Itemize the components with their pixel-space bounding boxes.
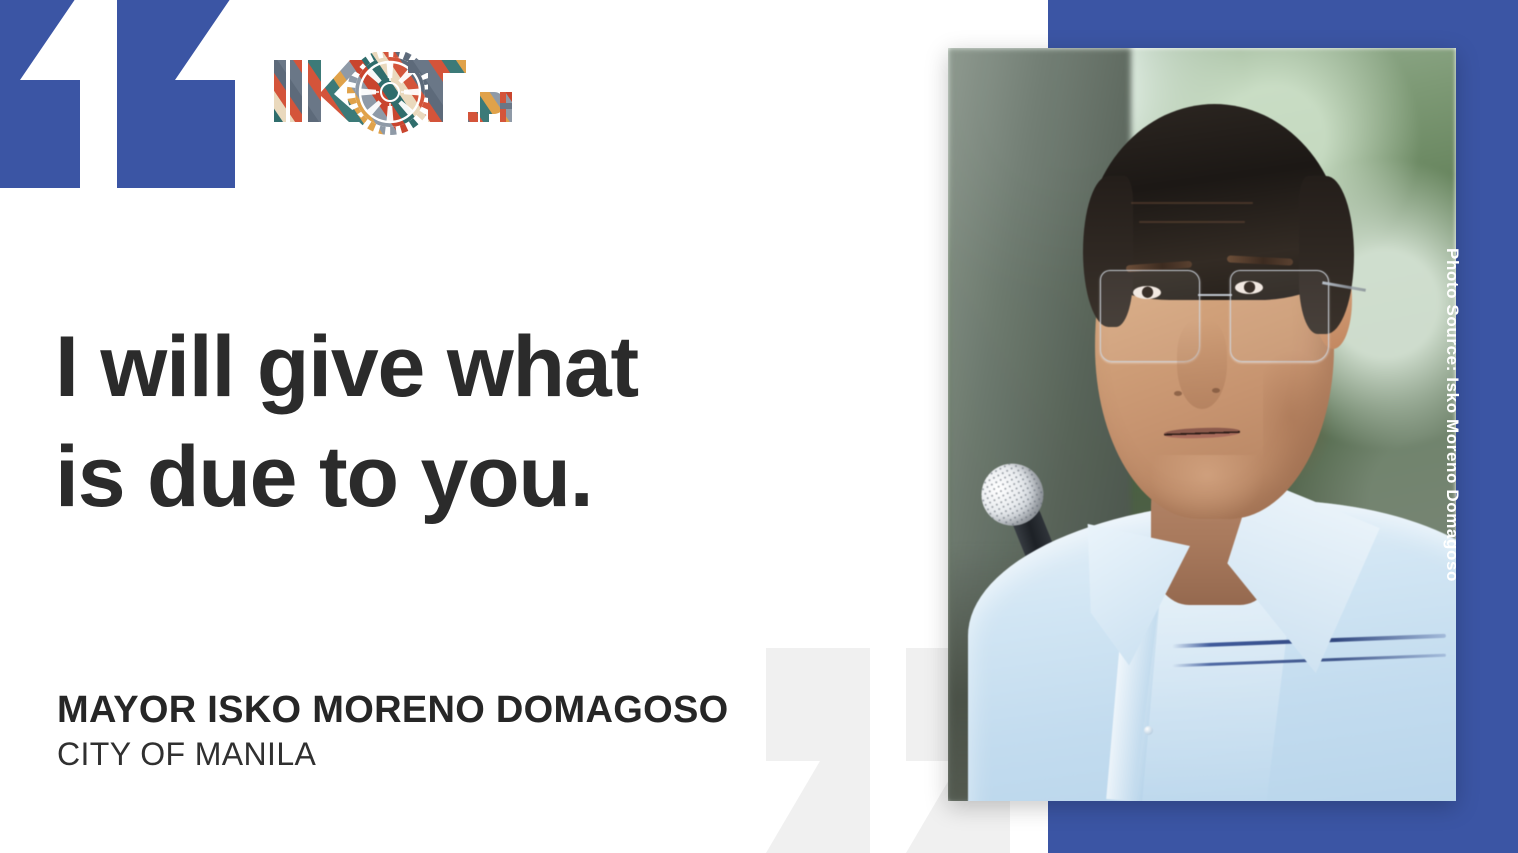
opening-quote-mark	[0, 0, 252, 188]
speaker-office: CITY OF MANILA	[57, 735, 887, 773]
cheek-shadow	[1263, 349, 1334, 485]
nostril-left	[1174, 391, 1182, 396]
forehead-line	[1139, 221, 1246, 223]
shirt-button	[1144, 726, 1153, 735]
ikot-ph-logo[interactable]	[272, 52, 512, 140]
glasses-bridge	[1198, 294, 1232, 296]
quote-text: I will give what is due to you.	[55, 312, 885, 532]
photo-source-caption: Photo Source: Isko Moreno Domagoso	[1442, 248, 1462, 582]
logo-suffix-ph	[462, 82, 512, 132]
portrait-photo	[948, 48, 1456, 801]
chin-highlight	[1151, 455, 1263, 523]
quote-line-2: is due to you.	[55, 422, 885, 532]
person-figure	[948, 48, 1456, 801]
portrait-photo-card	[948, 48, 1456, 801]
quote-line-1: I will give what	[55, 312, 885, 422]
poster-canvas: I will give what is due to you. MAYOR IS…	[0, 0, 1518, 853]
attribution-block: MAYOR ISKO MORENO DOMAGOSO CITY OF MANIL…	[57, 688, 887, 773]
speaker-name: MAYOR ISKO MORENO DOMAGOSO	[57, 688, 887, 733]
